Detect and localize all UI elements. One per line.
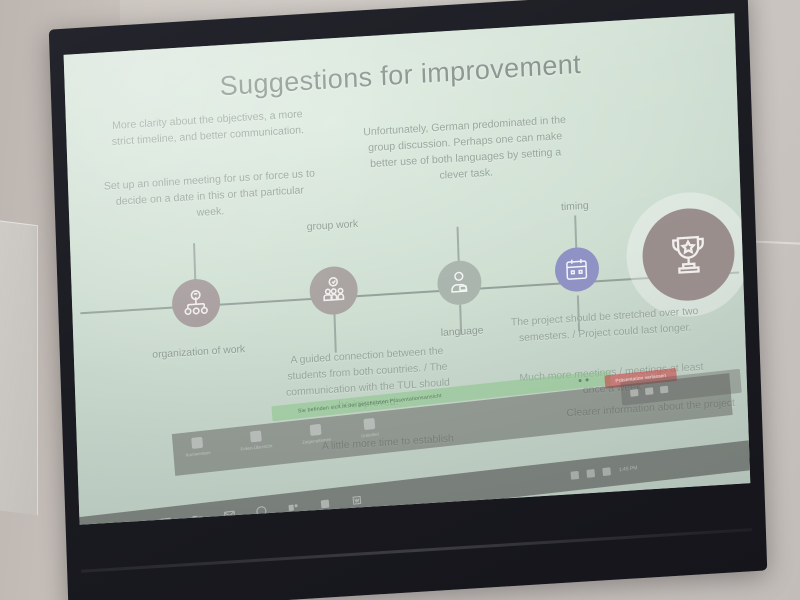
paragraph-left-top: More clarity about the objectives, a mor… xyxy=(100,105,316,150)
page-title: Suggestions for improvement xyxy=(64,39,736,112)
volume-icon[interactable] xyxy=(587,469,596,478)
maximize-icon[interactable] xyxy=(645,387,654,395)
toolbar-item-label: Zeigeroptionen xyxy=(302,437,332,445)
glass-panel xyxy=(0,219,38,515)
screen-bezel: Suggestions for improvement More clarity… xyxy=(49,0,768,600)
taskbar-clock[interactable]: 1:45 PM xyxy=(619,465,638,473)
powerpoint-icon[interactable] xyxy=(319,497,332,510)
timeline-node-timing xyxy=(554,246,599,293)
network-icon[interactable] xyxy=(571,471,580,480)
description-timing-1: The project should be stretched over two… xyxy=(507,304,704,348)
battery-icon[interactable] xyxy=(603,467,612,476)
toolbar-item-folien-uebersicht[interactable]: Folien-Übersicht xyxy=(239,429,272,451)
notification-dots xyxy=(553,378,589,385)
connector-stem xyxy=(457,227,460,263)
timeline-label-timing: timing xyxy=(519,198,631,216)
word-icon[interactable] xyxy=(350,494,363,507)
connector-stem xyxy=(193,243,196,281)
org-chart-icon xyxy=(181,287,212,319)
timeline-label-language: language xyxy=(403,323,521,341)
grid-icon xyxy=(250,430,262,442)
close-icon[interactable] xyxy=(660,385,669,393)
calendar-icon xyxy=(563,255,591,284)
comment-icon xyxy=(191,437,203,449)
toolbar-item-zeigeroptionen[interactable]: Zeigeroptionen xyxy=(301,423,332,445)
toolbar-item-label: Folien-Übersicht xyxy=(240,443,272,451)
timeline-node-language xyxy=(437,259,482,306)
timeline-node-organization-of-work xyxy=(171,278,221,329)
trophy-icon xyxy=(664,229,713,280)
group-people-icon xyxy=(318,275,349,307)
timeline-label-organization-of-work: organization of work xyxy=(124,342,274,362)
screen-surface: Suggestions for improvement More clarity… xyxy=(64,13,751,525)
timeline-node-group-work xyxy=(309,265,359,316)
toolbar-item-untertitel[interactable]: Untertitel xyxy=(360,418,379,439)
connector-stem xyxy=(574,215,577,249)
captions-icon xyxy=(363,418,375,430)
toolbar-item-kommentare[interactable]: Kommentare xyxy=(184,436,211,458)
photograph-of-projection-screen: Suggestions for improvement More clarity… xyxy=(0,0,800,600)
toolbar-item-label: Untertitel xyxy=(361,432,379,439)
paragraph-left-bottom: Set up an online meeting for us or force… xyxy=(102,165,318,227)
timeline-label-group-work: group work xyxy=(267,217,397,236)
toolbar-item-label: Kommentare xyxy=(185,450,210,458)
presentation-slide: Suggestions for improvement More clarity… xyxy=(64,13,751,525)
system-tray[interactable]: 1:45 PM xyxy=(571,464,638,480)
paragraph-middle: Unfortunately, German predominated in th… xyxy=(362,112,569,189)
pointer-icon xyxy=(310,424,322,436)
connector-stem xyxy=(333,315,336,353)
person-speaking-icon xyxy=(445,268,473,297)
minimize-icon[interactable] xyxy=(630,388,639,396)
